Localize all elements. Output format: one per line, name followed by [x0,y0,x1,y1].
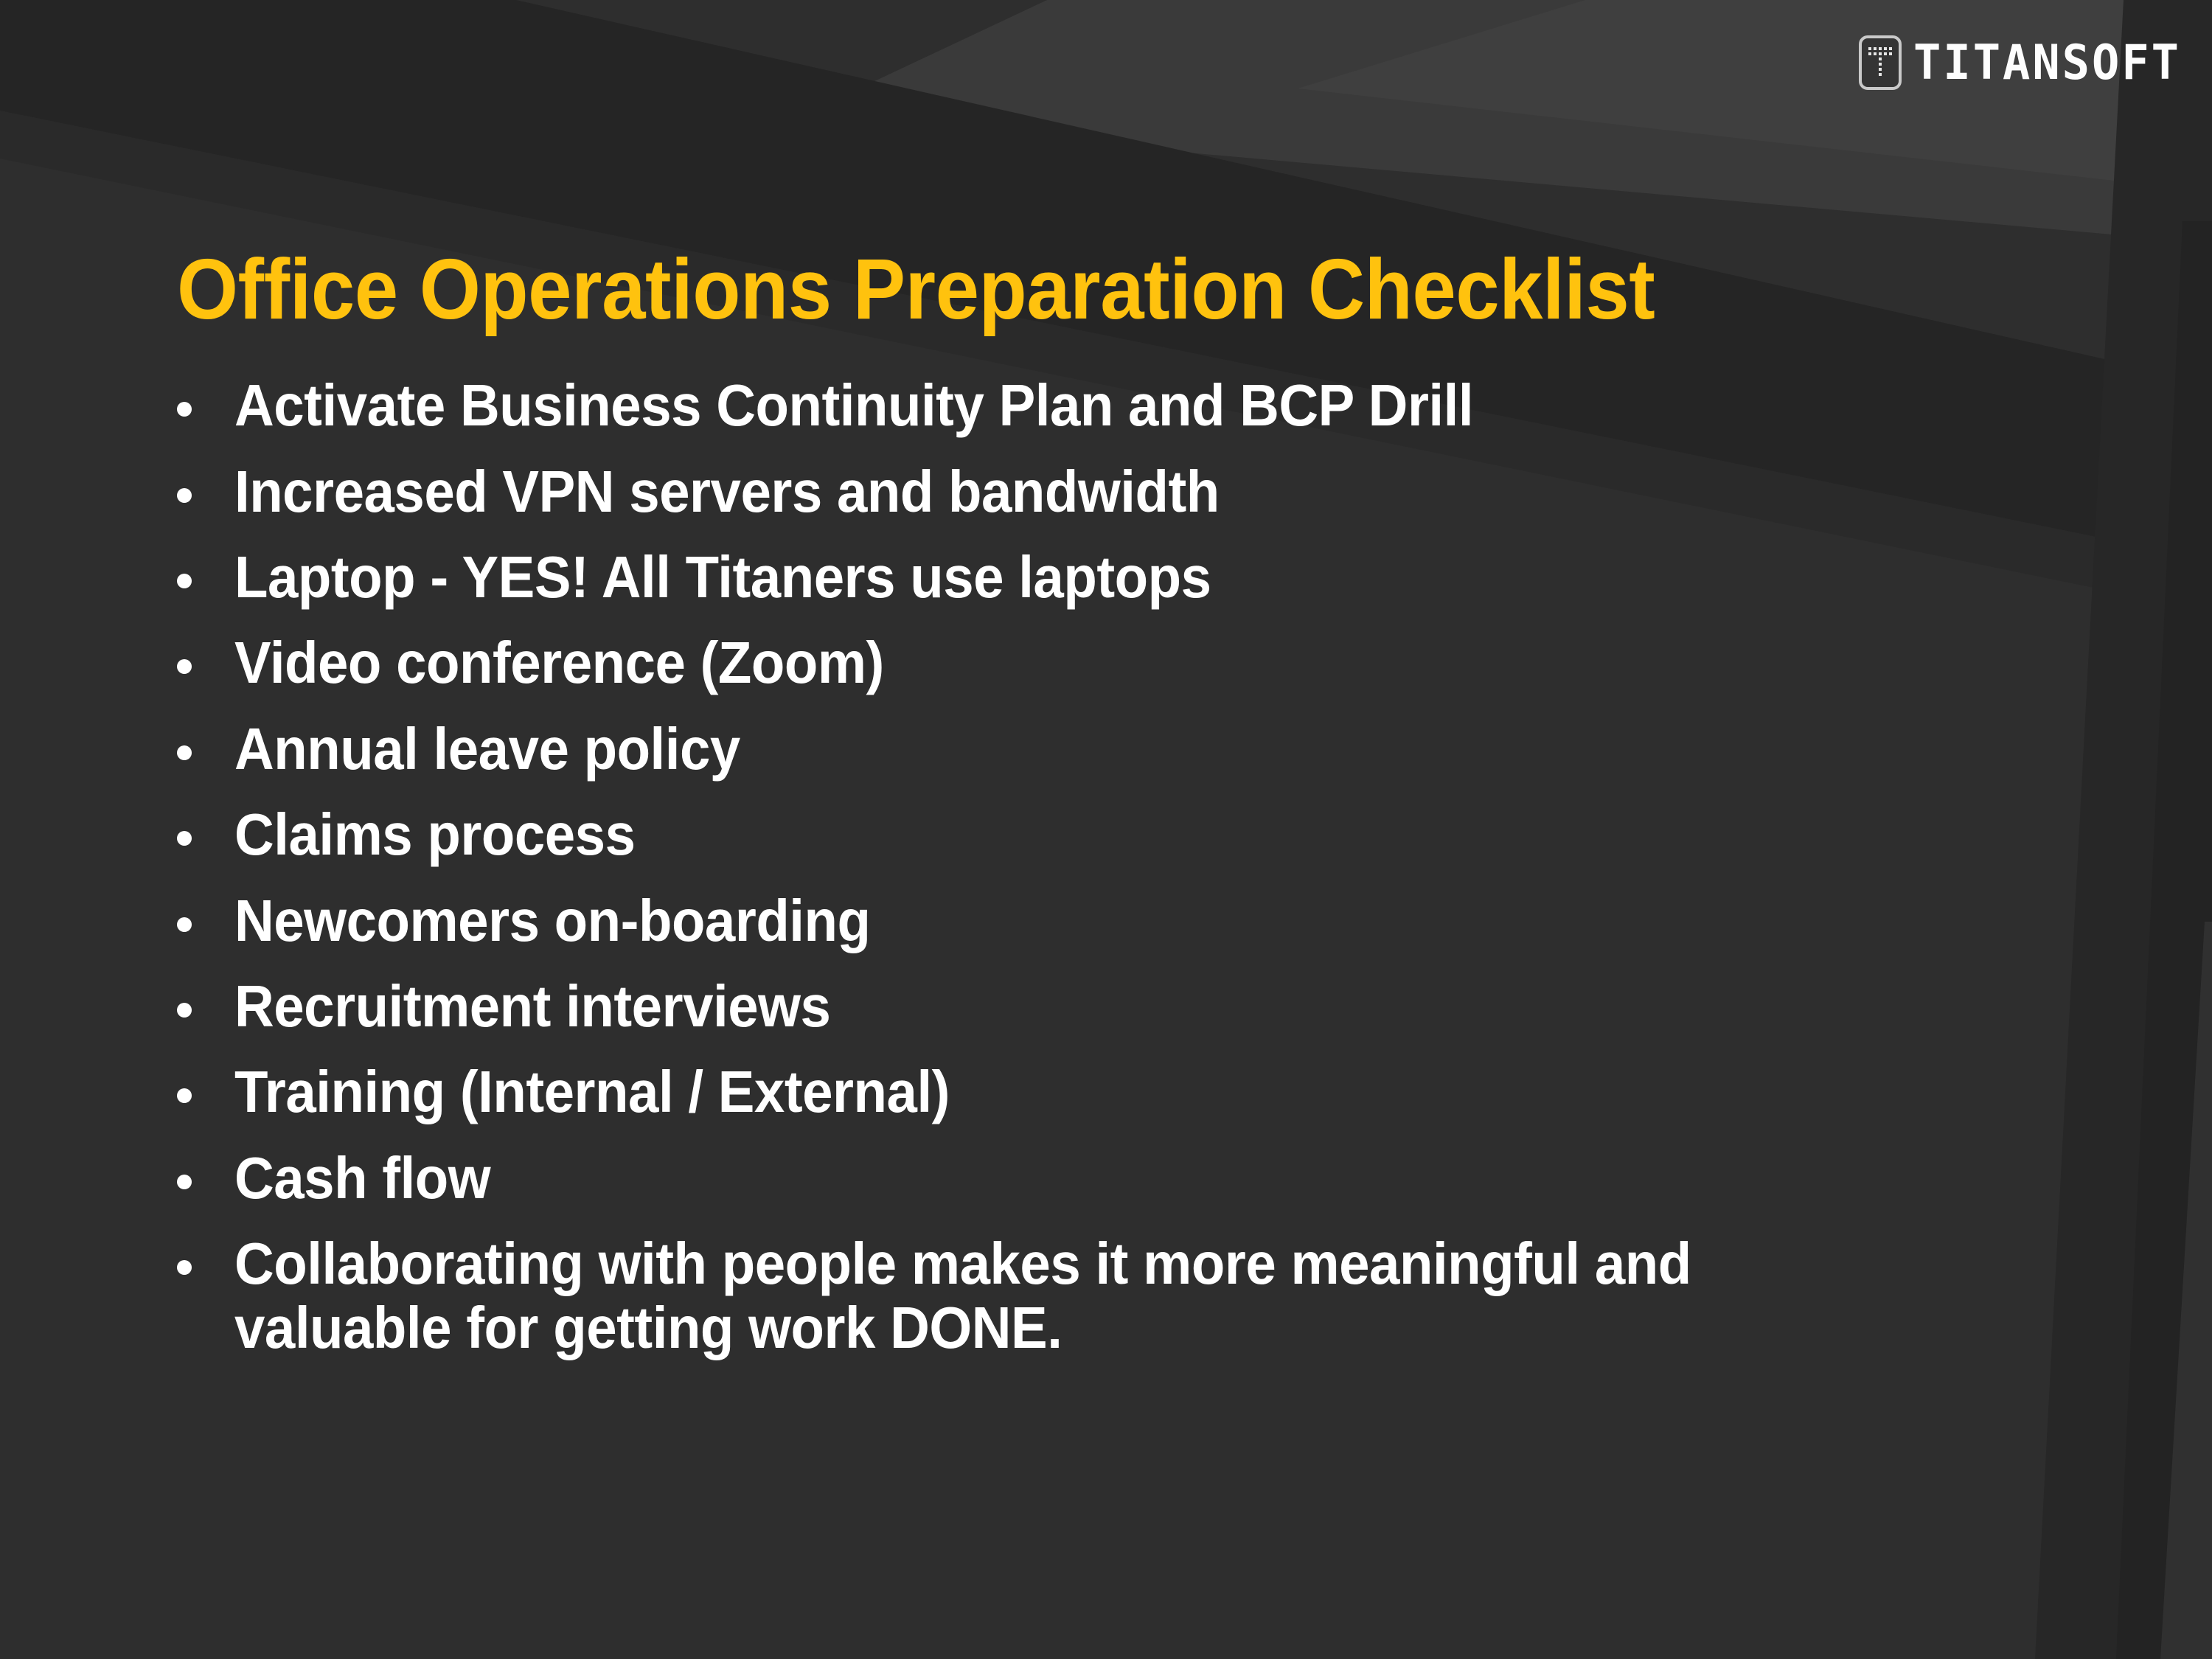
bullet-text: Cash flow [234,1147,490,1210]
bullet-dot-icon [177,831,192,846]
bullet-text: Newcomers on-boarding [234,889,870,953]
bullet-text: Video conference (Zoom) [234,631,884,695]
bullet-dot-icon [177,402,192,417]
list-item: Recruitment interviews [177,975,2020,1038]
list-item: Cash flow [177,1147,2020,1210]
bullet-text: Collaborating with people makes it more … [234,1232,1853,1360]
bullet-dot-icon [177,917,192,932]
presentation-slide: TITANSOFT Office Operations Preparation … [0,0,2212,1659]
list-item: Video conference (Zoom) [177,631,2020,695]
bullet-text: Activate Business Continuity Plan and BC… [234,374,1473,437]
list-item: Training (Internal / External) [177,1060,2020,1124]
list-item: Annual leave policy [177,717,2020,781]
bullet-dot-icon [177,574,192,588]
titansoft-dot-matrix-t-icon [1859,35,1902,90]
list-item: Activate Business Continuity Plan and BC… [177,374,2020,437]
list-item: Increased VPN servers and bandwidth [177,460,2020,524]
bullet-dot-icon [177,745,192,760]
titansoft-wordmark: TITANSOFT [1913,38,2181,86]
bullet-text: Claims process [234,803,635,866]
bullet-list: Activate Business Continuity Plan and BC… [177,374,2020,1360]
bullet-text: Recruitment interviews [234,975,830,1038]
bullet-dot-icon [177,1088,192,1103]
bullet-dot-icon [177,1003,192,1018]
list-item: Newcomers on-boarding [177,889,2020,953]
bullet-text: Increased VPN servers and bandwidth [234,460,1220,524]
bullet-text: Laptop - YES! All Titaners use laptops [234,546,1211,609]
list-item: Claims process [177,803,2020,866]
bullet-dot-icon [177,488,192,503]
bullet-text: Training (Internal / External) [234,1060,950,1124]
bullet-dot-icon [177,1260,192,1275]
slide-content: Office Operations Preparation Checklist … [177,243,2020,1382]
list-item: Collaborating with people makes it more … [177,1232,2020,1360]
bullet-text: Annual leave policy [234,717,740,781]
slide-title: Office Operations Preparation Checklist [177,243,1873,335]
list-item: Laptop - YES! All Titaners use laptops [177,546,2020,609]
titansoft-logo: TITANSOFT [1859,35,2181,90]
bullet-dot-icon [177,659,192,674]
bullet-dot-icon [177,1175,192,1189]
